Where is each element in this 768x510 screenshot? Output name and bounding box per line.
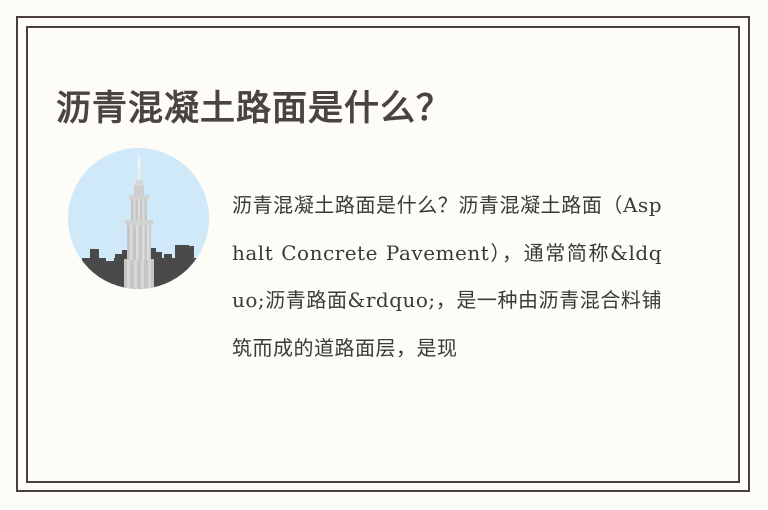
article-thumbnail (68, 148, 209, 289)
empire-state-building-icon (68, 148, 209, 289)
page-title: 沥青混凝土路面是什么？ (56, 87, 452, 131)
article-body-text: 沥青混凝土路面是什么？沥青混凝土路面（Asphalt Concrete Pave… (232, 182, 662, 372)
article-card-page: 沥青混凝土路面是什么？ (0, 0, 768, 510)
article-content: 沥青混凝土路面是什么？沥青混凝土路面（Asphalt Concrete Pave… (56, 148, 676, 398)
